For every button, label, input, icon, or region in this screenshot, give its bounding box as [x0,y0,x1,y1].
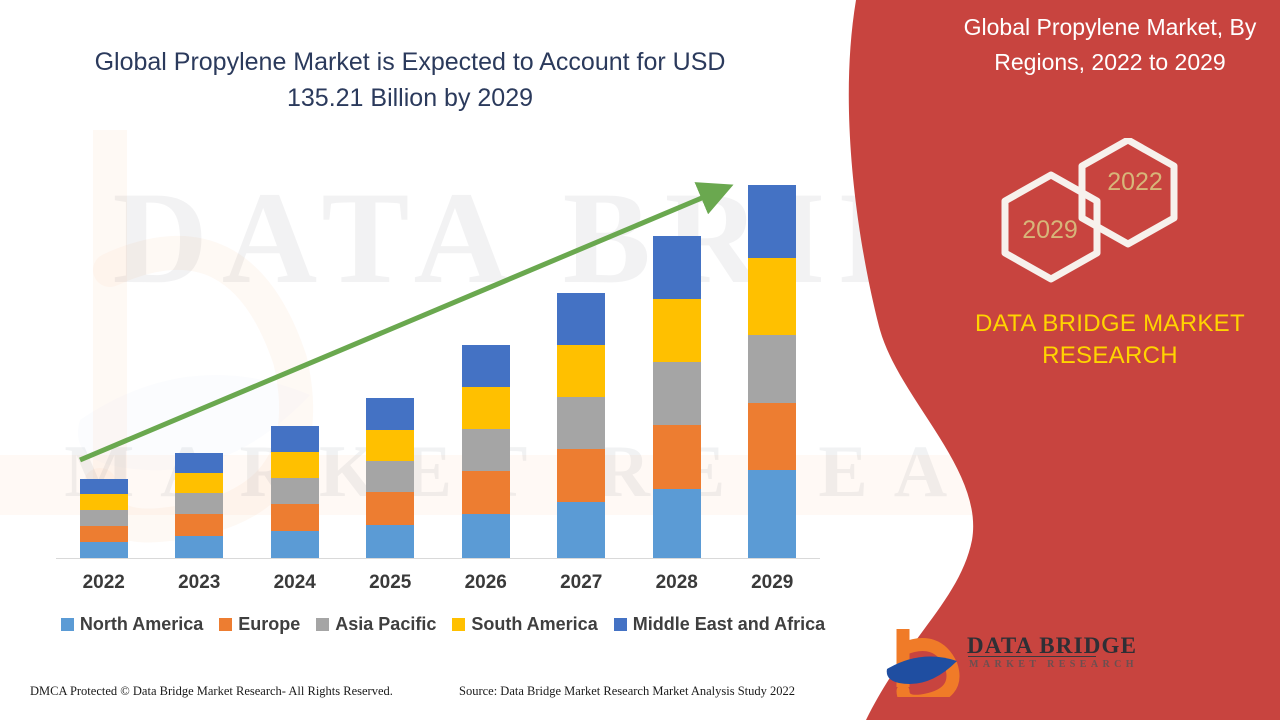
x-axis-label-2025: 2025 [343,572,438,602]
bar-segment [462,345,510,387]
bar-column-2024 [247,170,342,558]
legend-item-europe[interactable]: Europe [219,614,300,635]
bar-segment [557,345,605,397]
x-axis-labels: 20222023202420252026202720282029 [56,572,820,602]
bar-segment [748,258,796,335]
data-bridge-logo: DATA BRIDGE MARKET RESEARCH [885,625,1125,697]
legend-label: South America [471,614,597,635]
brand-line-2: RESEARCH [950,340,1270,372]
hexagon-group: 2022 2029 [940,138,1280,298]
bar-segment [366,525,414,558]
bar-segment [80,542,128,558]
bar-segment [653,362,701,425]
legend-item-middle-east-and-africa[interactable]: Middle East and Africa [614,614,825,635]
stacked-bar[interactable] [748,185,796,558]
stacked-bar[interactable] [80,479,128,558]
bar-segment [175,493,223,514]
bar-segment [462,471,510,514]
bar-segment [557,502,605,558]
legend-swatch-icon [219,618,232,631]
legend-item-south-america[interactable]: South America [452,614,597,635]
bar-column-2029 [725,170,820,558]
stacked-bar-chart: 20222023202420252026202720282029 [0,0,860,600]
brand-line-1: DATA BRIDGE MARKET [950,308,1270,340]
hexagon-label-2029: 2029 [1005,216,1095,245]
plot-area [56,170,820,558]
bar-segment [748,470,796,558]
footer: DMCA Protected © Data Bridge Market Rese… [0,684,860,708]
stacked-bar[interactable] [462,345,510,558]
bar-segment [366,492,414,525]
legend-label: Europe [238,614,300,635]
bar-segment [557,397,605,449]
legend-item-north-america[interactable]: North America [61,614,203,635]
legend-swatch-icon [316,618,329,631]
bar-segment [80,479,128,494]
legend-label: Asia Pacific [335,614,436,635]
bar-column-2023 [152,170,247,558]
infographic-root: DATA BRIDGE MARKET RESEARCH Global Propy… [0,0,1280,720]
bar-segment [653,299,701,362]
legend-label: North America [80,614,203,635]
bar-segment [175,453,223,473]
bar-column-2028 [629,170,724,558]
bar-segment [80,526,128,542]
bar-segment [462,429,510,471]
legend-swatch-icon [452,618,465,631]
bar-segment [366,398,414,430]
bar-segment [271,478,319,504]
x-axis-line [56,558,820,559]
panel-title: Global Propylene Market, By Regions, 202… [950,10,1270,80]
stacked-bar[interactable] [175,453,223,558]
bar-segment [175,473,223,493]
x-axis-label-2022: 2022 [56,572,151,602]
bar-segment [271,531,319,558]
stacked-bar[interactable] [271,426,319,558]
hexagon-label-2022: 2022 [1090,168,1180,197]
bar-segment [271,426,319,452]
bar-segment [462,514,510,558]
stacked-bar[interactable] [366,398,414,558]
bar-segment [175,536,223,558]
x-axis-label-2023: 2023 [152,572,247,602]
bar-column-2027 [534,170,629,558]
bar-segment [366,461,414,492]
bar-segment [557,293,605,345]
bar-segment [653,489,701,558]
bar-segment [175,514,223,536]
bar-segment [748,185,796,258]
chart-legend: North AmericaEuropeAsia PacificSouth Ame… [48,614,838,635]
legend-swatch-icon [61,618,74,631]
bar-segment [80,510,128,526]
bar-segment [80,494,128,510]
bar-segment [653,236,701,299]
bar-group [56,170,820,558]
x-axis-label-2027: 2027 [534,572,629,602]
x-axis-label-2029: 2029 [725,572,820,602]
logo-divider [968,656,1096,657]
legend-label: Middle East and Africa [633,614,825,635]
bar-segment [271,452,319,478]
logo-name-line2: MARKET RESEARCH [969,659,1138,670]
stacked-bar[interactable] [653,236,701,558]
stacked-bar[interactable] [557,293,605,558]
x-axis-label-2024: 2024 [247,572,342,602]
bar-segment [557,449,605,502]
x-axis-label-2028: 2028 [629,572,724,602]
bar-segment [748,403,796,470]
legend-item-asia-pacific[interactable]: Asia Pacific [316,614,436,635]
bar-segment [748,335,796,403]
brand-text: DATA BRIDGE MARKET RESEARCH [950,308,1270,372]
bar-segment [271,504,319,531]
bar-segment [653,425,701,489]
footer-copyright: DMCA Protected © Data Bridge Market Rese… [30,684,393,699]
bar-segment [366,430,414,461]
legend-swatch-icon [614,618,627,631]
hexagon-outlines-icon [940,138,1280,298]
bar-column-2025 [343,170,438,558]
bar-column-2022 [56,170,151,558]
red-panel-content: Global Propylene Market, By Regions, 202… [940,0,1280,720]
x-axis-label-2026: 2026 [438,572,533,602]
bar-segment [462,387,510,429]
bar-column-2026 [438,170,533,558]
footer-source: Source: Data Bridge Market Research Mark… [459,684,795,699]
